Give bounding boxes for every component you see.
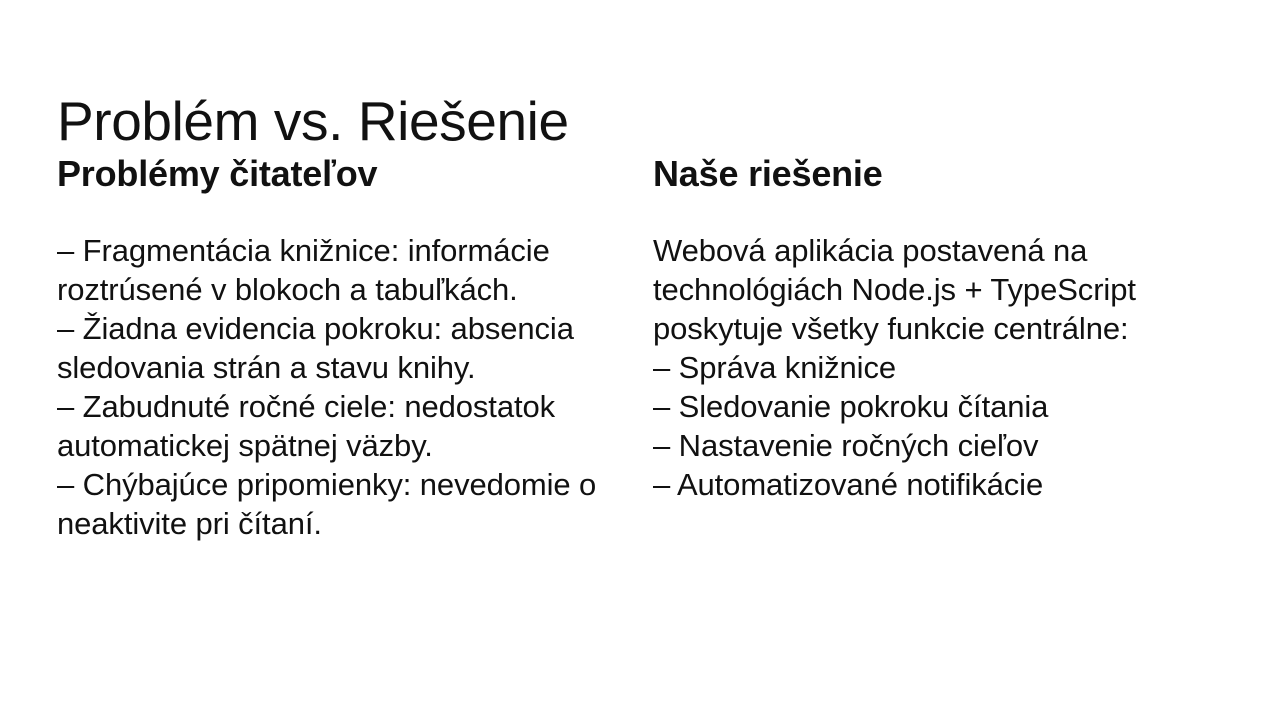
column-problems: Problémy čitateľov – Fragmentácia knižni…: [57, 152, 653, 543]
column-problems-body: – Fragmentácia knižnice: informácie rozt…: [57, 231, 623, 543]
body-line: – Nastavenie ročných cieľov: [653, 426, 1173, 465]
body-line: – Sledovanie pokroku čítania: [653, 387, 1173, 426]
two-column-layout: Problémy čitateľov – Fragmentácia knižni…: [57, 152, 1227, 543]
column-solution-body: Webová aplikácia postavená na technológi…: [653, 231, 1173, 504]
body-line: – Automatizované notifikácie: [653, 465, 1173, 504]
presentation-slide: Problém vs. Riešenie Problémy čitateľov …: [0, 0, 1280, 720]
body-line: – Správa knižnice: [653, 348, 1173, 387]
page-title: Problém vs. Riešenie: [57, 91, 569, 153]
body-line: – Zabudnuté ročné ciele: nedostatok auto…: [57, 387, 623, 465]
body-line: – Chýbajúce pripomienky: nevedomie o nea…: [57, 465, 623, 543]
body-line: – Žiadna evidencia pokroku: absencia sle…: [57, 309, 623, 387]
column-solution-heading: Naše riešenie: [653, 152, 1173, 195]
column-solution: Naše riešenie Webová aplikácia postavená…: [653, 152, 1173, 504]
body-line: Webová aplikácia postavená na technológi…: [653, 231, 1173, 348]
column-problems-heading: Problémy čitateľov: [57, 152, 623, 195]
body-line: – Fragmentácia knižnice: informácie rozt…: [57, 231, 623, 309]
